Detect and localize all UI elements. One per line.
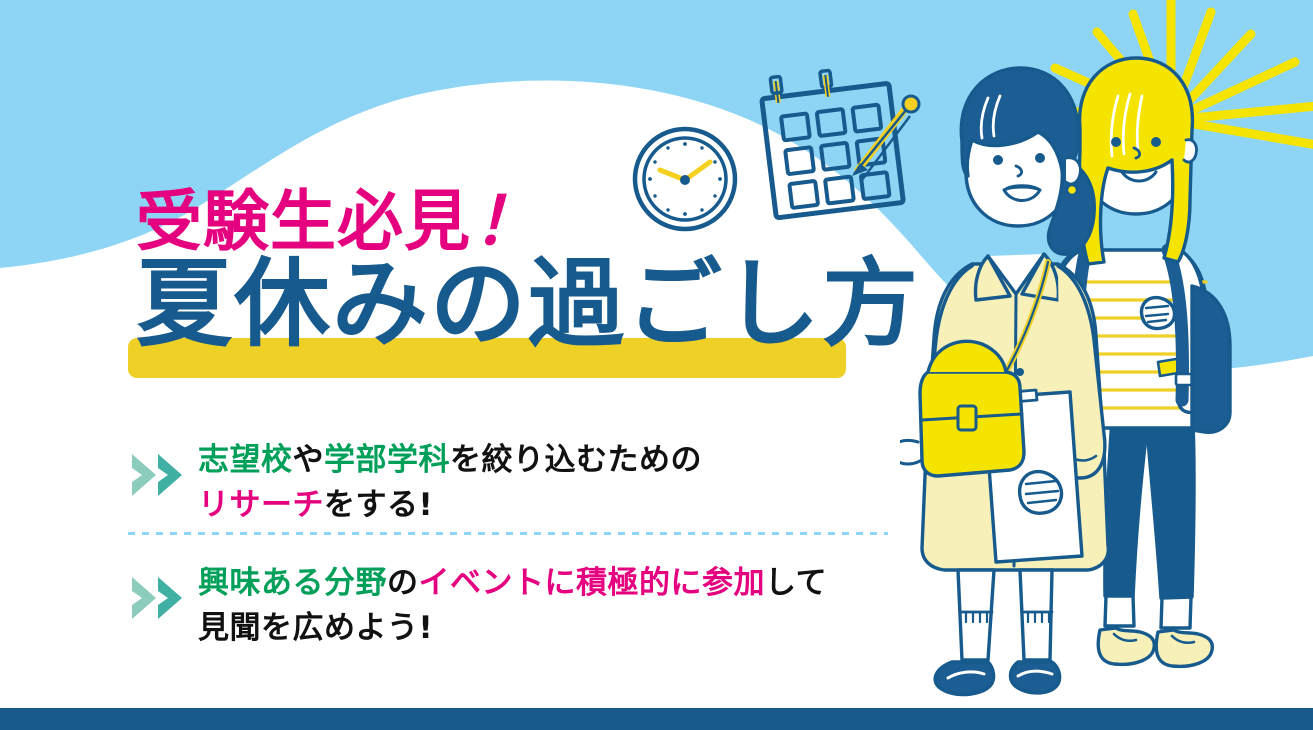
two-students-illustration [900, 0, 1313, 710]
list-item: 志望校や学部学科を絞り込むための リサーチをする! [128, 428, 888, 541]
bullet-2-seg-4: して [765, 565, 827, 601]
double-chevron-icon [128, 567, 190, 629]
bullet-2-line-2: 見聞を広めよう! [198, 606, 827, 651]
banner-root: 受験生必見！ 夏休みの過ごし方 志望校や学部学科を絞り込むための リサーチをする… [0, 0, 1313, 730]
clock-icon [632, 126, 738, 232]
student-with-clipboard [900, 68, 1108, 695]
bullet-1-seg-3: 学部学科 [324, 442, 450, 478]
bullet-2-line-1: 興味ある分野のイベントに積極的に参加して [198, 561, 827, 606]
page-title: 夏休みの過ごし方 [128, 254, 888, 384]
list-item: 興味ある分野のイベントに積極的に参加して 見聞を広めよう! [128, 541, 888, 664]
title-text: 夏休みの過ごし方 [136, 254, 920, 355]
bullet-1-line-2: リサーチをする! [198, 483, 702, 528]
double-chevron-icon [128, 444, 190, 506]
bullet-divider-1 [128, 532, 888, 535]
bullet-1-seg-6: をする! [324, 487, 433, 523]
bullet-1-seg-1: 志望校 [198, 442, 293, 478]
bullet-2-seg-5: 見聞を広めよう! [198, 610, 433, 646]
bullet-text-2: 興味ある分野のイベントに積極的に参加して 見聞を広めよう! [198, 561, 827, 652]
bullet-1-seg-4: を絞り込むための [450, 442, 702, 478]
bullet-2-seg-1: 興味ある分野 [198, 565, 387, 601]
bullet-text-1: 志望校や学部学科を絞り込むための リサーチをする! [198, 438, 702, 529]
bullet-1-seg-2: や [293, 442, 325, 478]
bullet-1-line-1: 志望校や学部学科を絞り込むための [198, 438, 702, 483]
bullet-list: 志望校や学部学科を絞り込むための リサーチをする! 興味ある分野のイベントに積極… [128, 428, 888, 663]
bottom-accent-bar [0, 708, 1313, 730]
bullet-2-seg-3: イベントに積極的に参加 [419, 565, 766, 601]
bullet-2-seg-2: の [387, 565, 419, 601]
bullet-1-seg-5: リサーチ [198, 487, 324, 523]
